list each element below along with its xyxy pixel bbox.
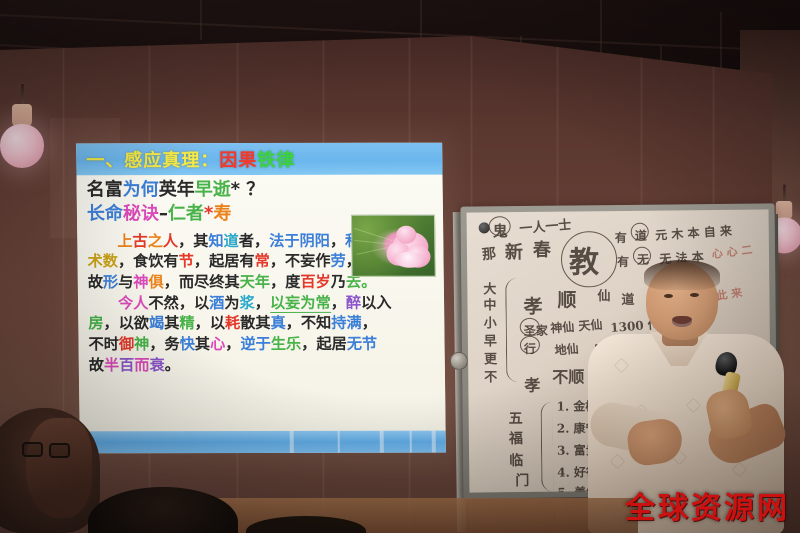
speaker-eye-left xyxy=(664,294,673,298)
slide-body-line-5: 房，以欲竭其精，以耗散其真，不知持满， xyxy=(88,313,436,334)
watermark: 全球资源网 xyxy=(625,483,790,527)
slide-body: 名富为何英年早逝* ？ 长命秘诀–仁者*寿 上古之人，其知道者，法于阴阳，和于 … xyxy=(76,175,445,432)
lecture-hall-photo: 一、感应真理：因果铁律 名富为何英年早逝* ？ 长命秘诀–仁者*寿 上古之人，其… xyxy=(0,0,800,533)
audience-face xyxy=(26,418,92,518)
whiteboard-stand-knob xyxy=(450,352,468,370)
slide-question-line-1: 名富为何英年早逝* ？ xyxy=(87,178,435,202)
bulb-glass xyxy=(0,124,44,168)
speaker-mouth xyxy=(672,316,692,327)
speaker-hair xyxy=(644,260,720,290)
lotus-image xyxy=(351,215,436,277)
projected-slide: 一、感应真理：因果铁律 名富为何英年早逝* ？ 长命秘诀–仁者*寿 上古之人，其… xyxy=(76,143,446,454)
slide-body-line-4: 今人不然，以酒为浆，以妄为常，醉以入 xyxy=(88,292,436,313)
speaker-eye-right xyxy=(690,293,699,297)
slide-title-highlight-green: 铁律 xyxy=(257,146,295,172)
slide-body-line-7: 故半百而衰。 xyxy=(89,355,437,376)
glasses-icon xyxy=(22,442,74,458)
slide-title-bar: 一、感应真理：因果铁律 xyxy=(76,143,442,176)
slide-title-highlight-red: 因果 xyxy=(219,146,257,172)
slide-body-line-6: 不时御神，务快其心，逆于生乐，起居无节 xyxy=(88,334,436,355)
slide-title-prefix: 一、感应真理： xyxy=(86,146,219,172)
hanging-light-bulb-left xyxy=(0,84,44,180)
slide-footer-bar xyxy=(80,431,446,454)
